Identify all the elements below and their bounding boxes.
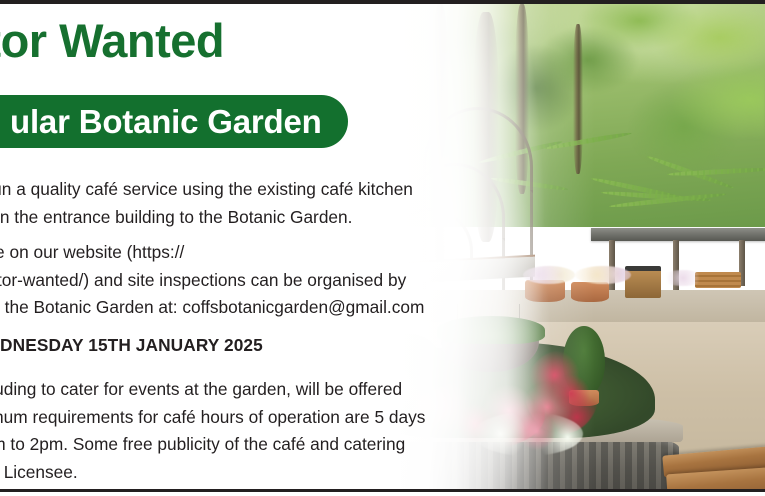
flower-pot xyxy=(571,282,609,302)
subheading-badge: ular Botanic Garden xyxy=(0,95,348,148)
tree-trunk xyxy=(573,24,583,174)
page-title: rator Wanted xyxy=(0,17,462,66)
contact-email-line[interactable]: s of the Botanic Garden at: coffsbotanic… xyxy=(0,294,472,322)
text-column: rator Wanted ular Botanic Garden o run a… xyxy=(0,0,470,496)
paragraph-application: able on our website (https:// erator-wan… xyxy=(0,239,472,322)
subheading-label: ular Botanic Garden xyxy=(10,105,322,138)
paragraph-line: o run a quality café service using the e… xyxy=(0,176,472,204)
top-edge-rule xyxy=(0,0,765,4)
poster-canvas: rator Wanted ular Botanic Garden o run a… xyxy=(0,0,765,496)
paragraph-line: ea in the entrance building to the Botan… xyxy=(0,204,472,232)
flower-cluster xyxy=(575,266,631,284)
paragraph-line: ncluding to cater for events at the gard… xyxy=(0,376,472,404)
rubbish-bin xyxy=(625,266,661,298)
flower-cluster xyxy=(473,412,583,456)
paragraph-overview: o run a quality café service using the e… xyxy=(0,176,472,231)
flower-cluster xyxy=(523,266,575,284)
paragraph-line: inimum requirements for café hours of op… xyxy=(0,404,472,432)
paragraph-line: erator-wanted/) and site inspections can… xyxy=(0,267,472,295)
paragraph-line: 9am to 2pm. Some free publicity of the c… xyxy=(0,431,472,459)
closing-date: WEDNESDAY 15TH JANUARY 2025 xyxy=(0,332,263,360)
paragraph-line: sful Licensee. xyxy=(0,459,472,487)
paragraph-line: able on our website (https:// xyxy=(0,239,472,267)
paragraph-terms: ncluding to cater for events at the gard… xyxy=(0,376,472,486)
bottom-edge-rule xyxy=(0,489,765,492)
flower-cluster xyxy=(661,270,705,286)
